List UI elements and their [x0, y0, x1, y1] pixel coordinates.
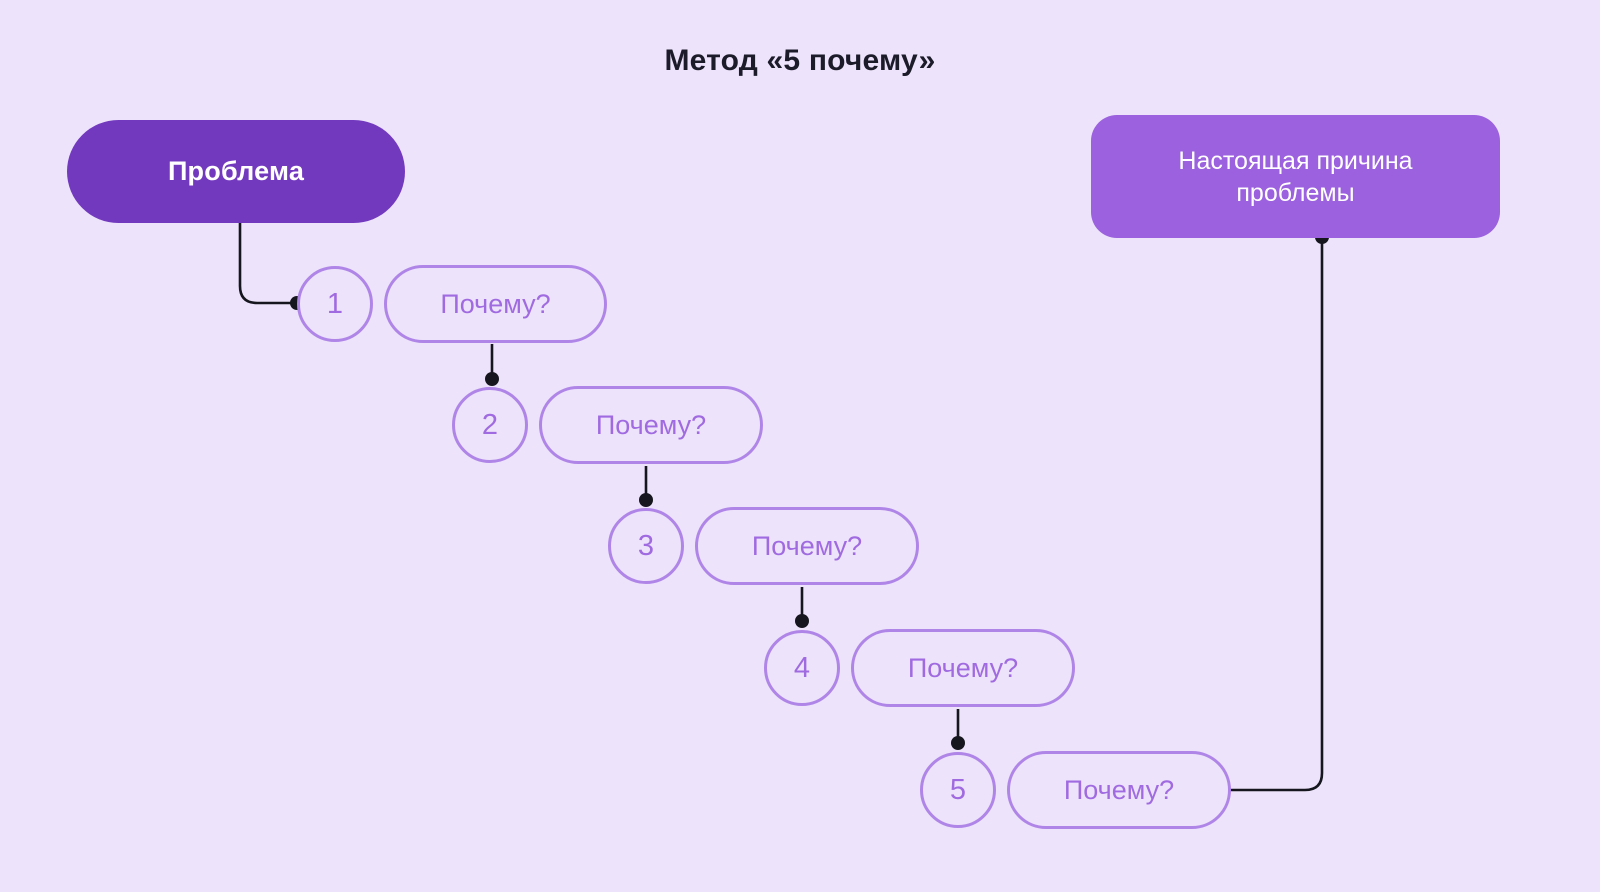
step-question-label-4: Почему? [908, 653, 1018, 684]
step-row-1: 1 Почему? [297, 265, 607, 343]
diagram-canvas: Метод «5 почему» Проблема Настоящая прич… [0, 0, 1600, 892]
step-question-label-5: Почему? [1064, 775, 1174, 806]
step-question-label-3: Почему? [752, 531, 862, 562]
step-question-label-2: Почему? [596, 410, 706, 441]
step-question-pill-2[interactable]: Почему? [539, 386, 763, 464]
page-title: Метод «5 почему» [0, 44, 1600, 78]
step-question-pill-5[interactable]: Почему? [1007, 751, 1231, 829]
step-question-label-1: Почему? [440, 289, 550, 320]
connector-problem-to-1 [240, 222, 293, 303]
step-number-circle-1[interactable]: 1 [297, 266, 373, 342]
step-number-circle-2[interactable]: 2 [452, 387, 528, 463]
connector-dot-2 [485, 372, 499, 386]
step-question-pill-4[interactable]: Почему? [851, 629, 1075, 707]
step-row-2: 2 Почему? [452, 386, 763, 464]
step-question-pill-1[interactable]: Почему? [384, 265, 607, 343]
connector-dot-5 [951, 736, 965, 750]
step-number-circle-5[interactable]: 5 [920, 752, 996, 828]
step-number-circle-4[interactable]: 4 [764, 630, 840, 706]
step-number-5: 5 [950, 776, 966, 805]
problem-label: Проблема [168, 156, 304, 187]
problem-box[interactable]: Проблема [67, 120, 405, 223]
step-question-pill-3[interactable]: Почему? [695, 507, 919, 585]
step-row-5: 5 Почему? [920, 751, 1231, 829]
root-cause-box[interactable]: Настоящая причина проблемы [1091, 115, 1500, 238]
root-cause-label: Настоящая причина проблемы [1117, 145, 1474, 209]
connector-dot-4 [795, 614, 809, 628]
step-number-3: 3 [638, 532, 654, 561]
connector-dot-3 [639, 493, 653, 507]
step-number-circle-3[interactable]: 3 [608, 508, 684, 584]
step-number-2: 2 [482, 411, 498, 440]
step-number-1: 1 [327, 290, 343, 319]
connector-5-to-cause [1228, 241, 1322, 790]
step-row-3: 3 Почему? [608, 507, 919, 585]
step-number-4: 4 [794, 654, 810, 683]
step-row-4: 4 Почему? [764, 629, 1075, 707]
